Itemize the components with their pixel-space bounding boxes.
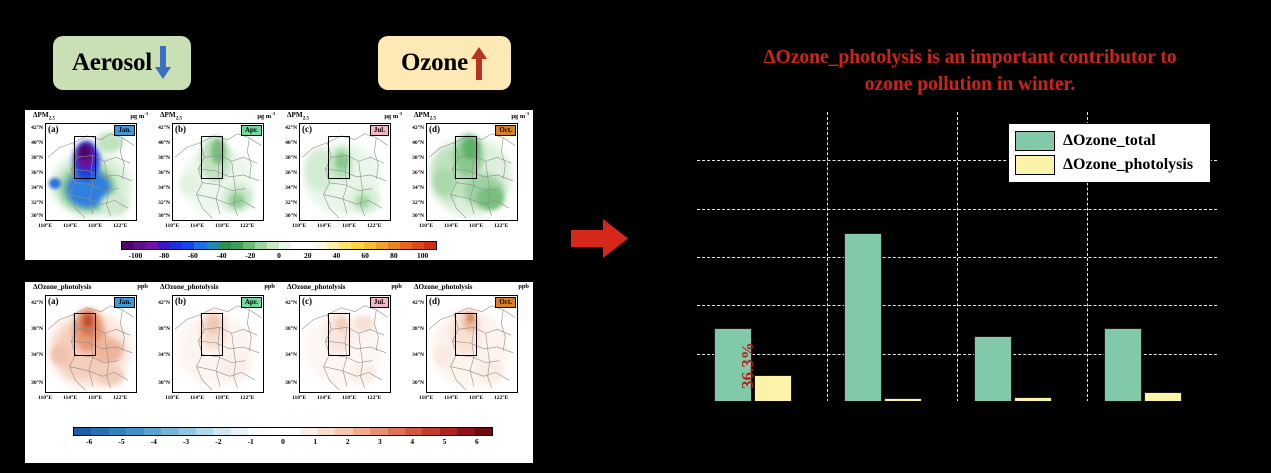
lon-tick: 110°E <box>38 223 52 229</box>
lon-tick: 114°E <box>63 395 77 401</box>
colorbar-cell <box>134 242 146 249</box>
colorbar-cell <box>335 428 352 435</box>
lat-tick: 34°N <box>153 185 170 191</box>
lat-tick: 34°N <box>26 185 43 191</box>
month-tag: Oct. <box>495 125 516 136</box>
lat-tick: 42°N <box>407 300 424 306</box>
lon-tick: 122°E <box>494 223 508 229</box>
chart-baseline <box>697 401 1217 402</box>
lon-tick: 114°E <box>444 223 458 229</box>
colorbar-ozone: -6-5-4-3-2-10123456 <box>73 427 493 448</box>
lat-tick: 42°N <box>407 125 424 131</box>
colorbar-cell <box>158 242 170 249</box>
month-tag: Jul. <box>370 125 389 136</box>
lon-tick: 110°E <box>165 395 179 401</box>
colorbar-cell <box>231 428 248 435</box>
lon-tick: 110°E <box>419 395 433 401</box>
lon-tick: 110°E <box>38 395 52 401</box>
lon-tick: 118°E <box>469 223 483 229</box>
colorbar-cell <box>388 242 400 249</box>
headline-line-2: ozone pollution in winter. <box>700 71 1240 98</box>
colorbar-cell <box>315 242 327 249</box>
panel-letter: (a) <box>48 296 59 306</box>
lat-tick: 42°N <box>153 300 170 306</box>
lat-tick: 38°N <box>280 155 297 161</box>
colorbar-tick: 100 <box>417 251 428 260</box>
colorbar-cell <box>400 242 412 249</box>
map-unit-label: ppb <box>518 283 529 290</box>
lon-tick: 118°E <box>215 223 229 229</box>
colorbar-tick: -80 <box>159 251 169 260</box>
lat-tick: 34°N <box>153 352 170 358</box>
panel-letter: (c) <box>302 124 312 134</box>
lon-tick: 114°E <box>317 395 331 401</box>
map-unit-label: µg m-3 <box>511 111 529 120</box>
panel-letter: (b) <box>175 296 186 306</box>
map-row-ozone: ΔOzone_photolysis ppb 42°N 38°N 34°N 30°… <box>25 282 533 410</box>
map-header: ΔPM2.5 µg m-3 <box>414 111 529 122</box>
map-variable-label: ΔOzone_photolysis <box>414 283 472 291</box>
colorbar-cell <box>388 428 405 435</box>
map-plate-ozone-photolysis: ΔOzone_photolysis ppb 42°N 38°N 34°N 30°… <box>25 282 533 463</box>
headline-line-1: ΔOzone_photolysis is an important contri… <box>700 44 1240 71</box>
map-unit-label: µg m-3 <box>257 111 275 120</box>
badge-aerosol: Aerosol <box>53 36 191 90</box>
lat-tick: 38°N <box>153 326 170 332</box>
lat-tick: 32°N <box>153 200 170 206</box>
colorbar-cell <box>412 242 424 249</box>
colorbar-cell <box>475 428 492 435</box>
colorbar-tick: 20 <box>304 251 312 260</box>
map-header: ΔOzone_photolysis ppb <box>414 283 529 294</box>
colorbar-tick: 0 <box>281 437 285 446</box>
colorbar-pm25: -100-80-60-40-20020406080100 <box>121 241 437 262</box>
lon-tick: 118°E <box>342 223 356 229</box>
colorbar-cell <box>266 428 283 435</box>
map-panel-ozone-jul: ΔOzone_photolysis ppb 42°N 38°N 34°N 30°… <box>279 282 406 410</box>
map-canvas: (c) Jul. <box>299 123 391 221</box>
colorbar-cell <box>318 428 335 435</box>
map-panel-pm25-jul: ΔPM2.5 µg m-3 42°N 40°N 38°N 36°N 34°N 3… <box>279 110 406 238</box>
colorbar-cell <box>196 428 213 435</box>
lon-tick: 122°E <box>494 395 508 401</box>
lat-tick: 42°N <box>280 125 297 131</box>
lat-tick: 34°N <box>407 185 424 191</box>
lat-tick: 30°N <box>153 213 170 219</box>
colorbar-cell <box>146 242 158 249</box>
colorbar-tick: -100 <box>128 251 142 260</box>
panel-letter: (d) <box>429 296 440 306</box>
lat-tick: 40°N <box>280 140 297 146</box>
colorbar-tick: 40 <box>333 251 341 260</box>
lon-tick: 114°E <box>63 223 77 229</box>
figure-canvas: Aerosol Ozone ΔPM2.5 µg m-3 42°N 40°N 38… <box>0 0 1271 473</box>
bar-total-oct[interactable] <box>1104 328 1142 402</box>
map-panel-ozone-oct: ΔOzone_photolysis ppb 42°N 38°N 34°N 30°… <box>406 282 533 410</box>
lat-tick: 38°N <box>280 326 297 332</box>
lon-tick: 122°E <box>113 223 127 229</box>
bar-total-apr[interactable] <box>844 233 882 402</box>
colorbar-tick: -60 <box>188 251 198 260</box>
lat-tick: 36°N <box>280 170 297 176</box>
colorbar-cell <box>353 428 370 435</box>
lat-tick: 38°N <box>407 326 424 332</box>
colorbar-cell <box>219 242 231 249</box>
gridline-vertical <box>957 112 958 402</box>
map-canvas: (a) Jan. <box>45 295 137 393</box>
colorbar-cell <box>161 428 178 435</box>
month-tag: Apr. <box>241 125 262 136</box>
colorbar-tick: 6 <box>475 437 479 446</box>
lat-tick: 40°N <box>26 140 43 146</box>
colorbar-cell <box>422 428 439 435</box>
legend-swatch-total <box>1015 131 1055 151</box>
lat-tick: 34°N <box>280 352 297 358</box>
colorbar-cell <box>170 242 182 249</box>
region-of-interest-box <box>328 313 351 356</box>
map-panel-pm25-jan: ΔPM2.5 µg m-3 42°N 40°N 38°N 36°N 34°N 3… <box>25 110 152 238</box>
legend-label-total: ΔOzone_total <box>1063 132 1156 150</box>
legend-swatch-photolysis <box>1015 155 1055 175</box>
colorbar-cell <box>405 428 422 435</box>
lat-tick: 38°N <box>407 155 424 161</box>
lat-tick: 34°N <box>407 352 424 358</box>
colorbar-cell <box>351 242 363 249</box>
colorbar-ticks: -100-80-60-40-20020406080100 <box>121 251 437 262</box>
colorbar-cell <box>91 428 108 435</box>
colorbar-cell <box>122 242 134 249</box>
map-variable-label: ΔPM2.5 <box>33 111 55 121</box>
colorbar-cell <box>74 428 91 435</box>
legend-label-photolysis: ΔOzone_photolysis <box>1063 156 1193 174</box>
colorbar-tick: 3 <box>378 437 382 446</box>
map-header: ΔPM2.5 µg m-3 <box>287 111 402 122</box>
lat-tick: 36°N <box>407 170 424 176</box>
lat-tick: 32°N <box>407 200 424 206</box>
map-canvas: (c) Jul. <box>299 295 391 393</box>
region-of-interest-box <box>201 313 224 356</box>
map-header: ΔOzone_photolysis ppb <box>160 283 275 294</box>
lat-tick: 30°N <box>26 380 43 386</box>
lon-tick: 110°E <box>419 223 433 229</box>
map-variable-label: ΔPM2.5 <box>160 111 182 121</box>
colorbar-tick: 0 <box>277 251 281 260</box>
colorbar-tick: -2 <box>215 437 221 446</box>
colorbar-cell <box>194 242 206 249</box>
colorbar-cell <box>213 428 230 435</box>
lon-tick: 110°E <box>165 223 179 229</box>
colorbar-cell <box>424 242 436 249</box>
lat-tick: 36°N <box>153 170 170 176</box>
map-panel-pm25-apr: ΔPM2.5 µg m-3 42°N 40°N 38°N 36°N 34°N 3… <box>152 110 279 238</box>
colorbar-cell <box>243 242 255 249</box>
lat-tick: 30°N <box>407 380 424 386</box>
legend-item-photolysis[interactable]: ΔOzone_photolysis <box>1015 155 1204 175</box>
month-tag: Oct. <box>495 297 516 308</box>
map-variable-label: ΔPM2.5 <box>287 111 309 121</box>
colorbar-tick: -5 <box>118 437 124 446</box>
lat-tick: 40°N <box>407 140 424 146</box>
colorbar-strip <box>121 241 437 250</box>
legend-item-total[interactable]: ΔOzone_total <box>1015 131 1204 151</box>
month-tag: Apr. <box>241 297 262 308</box>
badge-ozone: Ozone <box>378 36 511 90</box>
colorbar-cell <box>279 242 291 249</box>
colorbar-cell <box>376 242 388 249</box>
colorbar-cell <box>440 428 457 435</box>
lat-tick: 42°N <box>280 300 297 306</box>
map-variable-label: ΔOzone_photolysis <box>160 283 218 291</box>
region-of-interest-box <box>455 136 478 179</box>
colorbar-cell <box>303 242 315 249</box>
lon-tick: 114°E <box>190 395 204 401</box>
lat-tick: 32°N <box>26 200 43 206</box>
map-header: ΔOzone_photolysis ppb <box>287 283 402 294</box>
colorbar-cell <box>327 242 339 249</box>
colorbar-tick: 5 <box>443 437 447 446</box>
colorbar-cell <box>231 242 243 249</box>
map-variable-label: ΔOzone_photolysis <box>287 283 345 291</box>
colorbar-cell <box>126 428 143 435</box>
colorbar-tick: 60 <box>361 251 369 260</box>
panel-letter: (c) <box>302 296 312 306</box>
lon-tick: 122°E <box>240 223 254 229</box>
map-panel-ozone-apr: ΔOzone_photolysis ppb 42°N 38°N 34°N 30°… <box>152 282 279 410</box>
region-of-interest-box <box>74 136 97 179</box>
lon-tick: 114°E <box>190 223 204 229</box>
lat-tick: 30°N <box>280 380 297 386</box>
bar-percentage-annotation: 36.3% <box>738 342 758 389</box>
panel-letter: (d) <box>429 124 440 134</box>
colorbar-cell <box>207 242 219 249</box>
map-variable-label: ΔOzone_photolysis <box>33 283 91 291</box>
map-canvas: (b) Apr. <box>172 123 264 221</box>
right-arrow-icon <box>570 216 630 261</box>
up-arrow-icon <box>470 46 488 80</box>
map-canvas: (a) Jan. <box>45 123 137 221</box>
lon-tick: 114°E <box>444 395 458 401</box>
colorbar-cell <box>300 428 317 435</box>
colorbar-tick: -40 <box>217 251 227 260</box>
map-header: ΔPM2.5 µg m-3 <box>33 111 148 122</box>
colorbar-cell <box>248 428 265 435</box>
lat-tick: 38°N <box>26 326 43 332</box>
lat-tick: 34°N <box>26 352 43 358</box>
lat-tick: 30°N <box>407 213 424 219</box>
badge-ozone-label: Ozone <box>401 49 468 77</box>
colorbar-cell <box>364 242 376 249</box>
map-unit-label: µg m-3 <box>384 111 402 120</box>
month-tag: Jan. <box>114 297 135 308</box>
gridline-vertical <box>827 112 828 402</box>
colorbar-cell <box>182 242 194 249</box>
bar-photolysis-jan[interactable] <box>754 375 792 402</box>
colorbar-tick: 2 <box>346 437 350 446</box>
panel-letter: (a) <box>48 124 59 134</box>
lon-tick: 122°E <box>367 223 381 229</box>
colorbar-tick: -6 <box>86 437 92 446</box>
map-header: ΔPM2.5 µg m-3 <box>160 111 275 122</box>
panel-letter: (b) <box>175 124 186 134</box>
colorbar-cell <box>370 428 387 435</box>
colorbar-cell <box>144 428 161 435</box>
map-panel-pm25-oct: ΔPM2.5 µg m-3 42°N 40°N 38°N 36°N 34°N 3… <box>406 110 533 238</box>
lat-tick: 36°N <box>26 170 43 176</box>
lat-tick: 38°N <box>153 155 170 161</box>
colorbar-tick: 4 <box>410 437 414 446</box>
colorbar-cell <box>267 242 279 249</box>
month-tag: Jul. <box>370 297 389 308</box>
lat-tick: 32°N <box>280 200 297 206</box>
lon-tick: 122°E <box>113 395 127 401</box>
lon-tick: 122°E <box>240 395 254 401</box>
headline-text: ΔOzone_photolysis is an important contri… <box>700 44 1240 98</box>
colorbar-cell <box>109 428 126 435</box>
colorbar-cell <box>255 242 267 249</box>
region-of-interest-box <box>328 136 351 179</box>
region-of-interest-box <box>455 313 478 356</box>
lon-tick: 118°E <box>215 395 229 401</box>
region-of-interest-box <box>201 136 224 179</box>
map-header: ΔOzone_photolysis ppb <box>33 283 148 294</box>
lon-tick: 118°E <box>342 395 356 401</box>
lat-tick: 38°N <box>26 155 43 161</box>
lat-tick: 30°N <box>280 213 297 219</box>
colorbar-tick: 1 <box>313 437 317 446</box>
map-panel-ozone-jan: ΔOzone_photolysis ppb 42°N 38°N 34°N 30°… <box>25 282 152 410</box>
map-plate-pm25: ΔPM2.5 µg m-3 42°N 40°N 38°N 36°N 34°N 3… <box>25 110 533 260</box>
chart-legend: ΔOzone_total ΔOzone_photolysis <box>1008 123 1211 183</box>
colorbar-tick: -3 <box>183 437 189 446</box>
colorbar-cell <box>283 428 300 435</box>
map-canvas: (b) Apr. <box>172 295 264 393</box>
map-unit-label: ppb <box>137 283 148 290</box>
colorbar-cell <box>457 428 474 435</box>
colorbar-cell <box>339 242 351 249</box>
colorbar-tick: 80 <box>390 251 398 260</box>
lon-tick: 110°E <box>292 395 306 401</box>
region-of-interest-box <box>74 313 97 356</box>
map-unit-label: ppb <box>391 283 402 290</box>
map-canvas: (d) Oct. <box>426 295 518 393</box>
lat-tick: 30°N <box>153 380 170 386</box>
lat-tick: 42°N <box>26 300 43 306</box>
lon-tick: 118°E <box>88 223 102 229</box>
colorbar-ticks: -6-5-4-3-2-10123456 <box>73 437 493 448</box>
map-unit-label: µg m-3 <box>130 111 148 120</box>
lon-tick: 118°E <box>88 395 102 401</box>
lon-tick: 118°E <box>469 395 483 401</box>
colorbar-tick: -1 <box>248 437 254 446</box>
map-unit-label: ppb <box>264 283 275 290</box>
colorbar-cell <box>179 428 196 435</box>
badge-aerosol-label: Aerosol <box>72 49 152 77</box>
bar-total-jul[interactable] <box>974 336 1012 402</box>
colorbar-strip <box>73 427 493 436</box>
map-row-pm25: ΔPM2.5 µg m-3 42°N 40°N 38°N 36°N 34°N 3… <box>25 110 533 238</box>
lat-tick: 34°N <box>280 185 297 191</box>
map-canvas: (d) Oct. <box>426 123 518 221</box>
lon-tick: 122°E <box>367 395 381 401</box>
lon-tick: 114°E <box>317 223 331 229</box>
colorbar-tick: -4 <box>151 437 157 446</box>
down-arrow-icon <box>154 46 172 80</box>
colorbar-tick: -20 <box>245 251 255 260</box>
lat-tick: 42°N <box>153 125 170 131</box>
lat-tick: 40°N <box>153 140 170 146</box>
lat-tick: 42°N <box>26 125 43 131</box>
month-tag: Jan. <box>114 125 135 136</box>
lon-tick: 110°E <box>292 223 306 229</box>
lat-tick: 30°N <box>26 213 43 219</box>
map-variable-label: ΔPM2.5 <box>414 111 436 121</box>
colorbar-cell <box>291 242 303 249</box>
